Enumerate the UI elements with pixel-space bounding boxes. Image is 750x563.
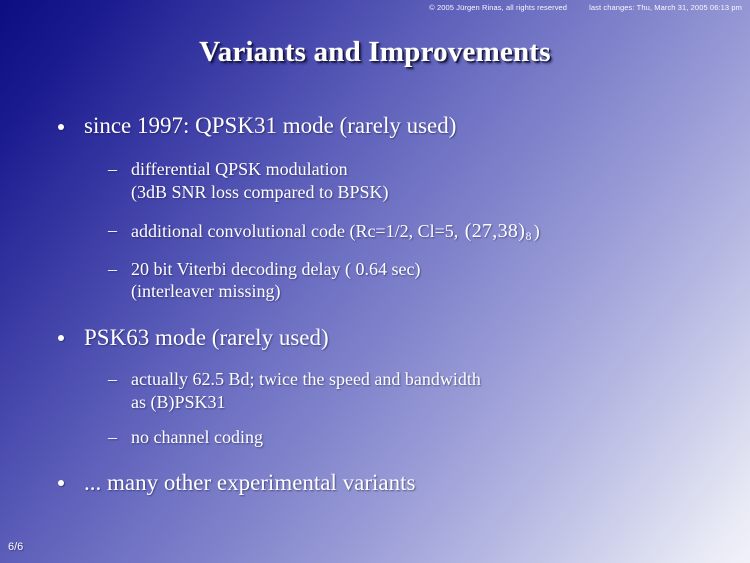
bullet-level2-line2: (3dB SNR loss compared to BPSK) — [131, 181, 720, 204]
bullet-level2-line1: actually 62.5 Bd; twice the speed and ba… — [131, 368, 720, 391]
equation-main: (27,38) — [465, 220, 525, 242]
slide-title: Variants and Improvements — [0, 36, 750, 69]
bullet-dot-icon — [58, 124, 64, 130]
bullet-level1-since-1997: since 1997: QPSK31 mode (rarely used) — [48, 112, 720, 140]
bullet-level2-convolutional-code: – additional convolutional code (Rc=1/2,… — [104, 219, 720, 244]
bullet-level2-text-before-equation: additional convolutional code (Rc=1/2, C… — [131, 221, 458, 241]
slide-header: © 2005 Jürgen Rinas, all rights reserved… — [0, 1, 742, 14]
page-number: 6/6 — [8, 541, 23, 553]
dash-bullet-icon: – — [108, 368, 117, 391]
bullet-level1-label: PSK63 mode (rarely used) — [84, 325, 329, 350]
bullet-level1-label: since 1997: QPSK31 mode (rarely used) — [84, 113, 456, 138]
slide: © 2005 Jürgen Rinas, all rights reserved… — [0, 0, 750, 563]
bullet-level1-label: ... many other experimental variants — [84, 470, 415, 495]
bullet-level2-line2: (interleaver missing) — [131, 280, 720, 303]
bullet-level2-text-after-equation: ) — [534, 221, 540, 241]
bullet-dot-icon — [58, 480, 64, 486]
bullet-level2-line1: 20 bit Viterbi decoding delay ( 0.64 sec… — [131, 258, 720, 281]
dash-bullet-icon: – — [108, 219, 117, 242]
equation-subscript: 8 — [525, 230, 532, 243]
bullet-level2-viterbi-delay: – 20 bit Viterbi decoding delay ( 0.64 s… — [104, 258, 720, 303]
bullet-dot-icon — [58, 335, 64, 341]
dash-bullet-icon: – — [108, 426, 117, 449]
bullet-level2-baud-rate: – actually 62.5 Bd; twice the speed and … — [104, 368, 720, 413]
bullet-level1-other-variants: ... many other experimental variants — [48, 469, 720, 497]
bullet-level2-line1: differential QPSK modulation — [131, 158, 720, 181]
bullet-level1-psk63-mode: PSK63 mode (rarely used) — [48, 324, 720, 352]
equation-generator-polynomials: (27,38)8 — [463, 220, 534, 242]
bullet-level2-differential-qpsk: – differential QPSK modulation (3dB SNR … — [104, 158, 720, 203]
bullet-level2-line2: as (B)PSK31 — [131, 391, 720, 414]
dash-bullet-icon: – — [108, 258, 117, 281]
bullet-level2-no-channel-coding: – no channel coding — [104, 426, 720, 449]
slide-body: since 1997: QPSK31 mode (rarely used) – … — [48, 112, 720, 497]
last-changes-text: last changes: Thu, March 31, 2005 06:13 … — [589, 3, 742, 12]
dash-bullet-icon: – — [108, 158, 117, 181]
bullet-level2-label: no channel coding — [131, 427, 263, 447]
copyright-notice: © 2005 Jürgen Rinas, all rights reserved — [429, 3, 567, 12]
